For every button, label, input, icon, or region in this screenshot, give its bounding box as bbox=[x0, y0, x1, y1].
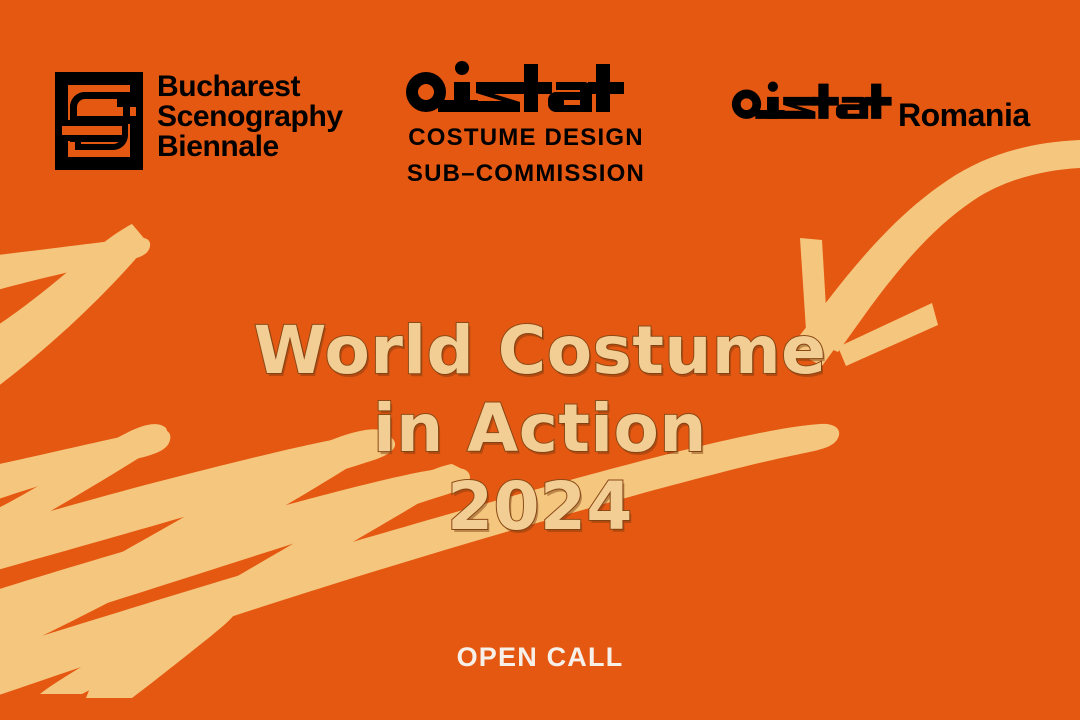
title-line-3: 2024 bbox=[0, 468, 1080, 546]
oistat-cd-subline-2: SUB–COMMISSION bbox=[398, 156, 654, 192]
title-line-2: in Action bbox=[0, 390, 1080, 468]
title-line-1: World Costume bbox=[0, 312, 1080, 390]
oistat-romania-label: Romania bbox=[898, 99, 1030, 131]
logo-bucharest-scenography-biennale: Bucharest Scenography Biennale bbox=[55, 72, 343, 170]
bsb-line-2: Scenography bbox=[157, 102, 343, 132]
logo-oistat-romania: Romania bbox=[726, 78, 1030, 131]
logo-oistat-costume-design: COSTUME DESIGN SUB–COMMISSION bbox=[398, 58, 654, 192]
bsb-square-s-mark bbox=[55, 72, 143, 170]
bsb-wordmark: Bucharest Scenography Biennale bbox=[157, 72, 343, 162]
poster-title: World Costume in Action 2024 bbox=[0, 312, 1080, 546]
bsb-line-1: Bucharest bbox=[157, 72, 343, 102]
logo-row: Bucharest Scenography Biennale bbox=[0, 0, 1080, 210]
bsb-line-3: Biennale bbox=[157, 132, 343, 162]
oistat-romania-wordmark-icon bbox=[726, 78, 896, 126]
oistat-cd-subline-1: COSTUME DESIGN bbox=[398, 120, 654, 156]
poster: Bucharest Scenography Biennale bbox=[0, 0, 1080, 720]
open-call-label: OPEN CALL bbox=[0, 641, 1080, 673]
oistat-wordmark-icon bbox=[398, 58, 630, 120]
